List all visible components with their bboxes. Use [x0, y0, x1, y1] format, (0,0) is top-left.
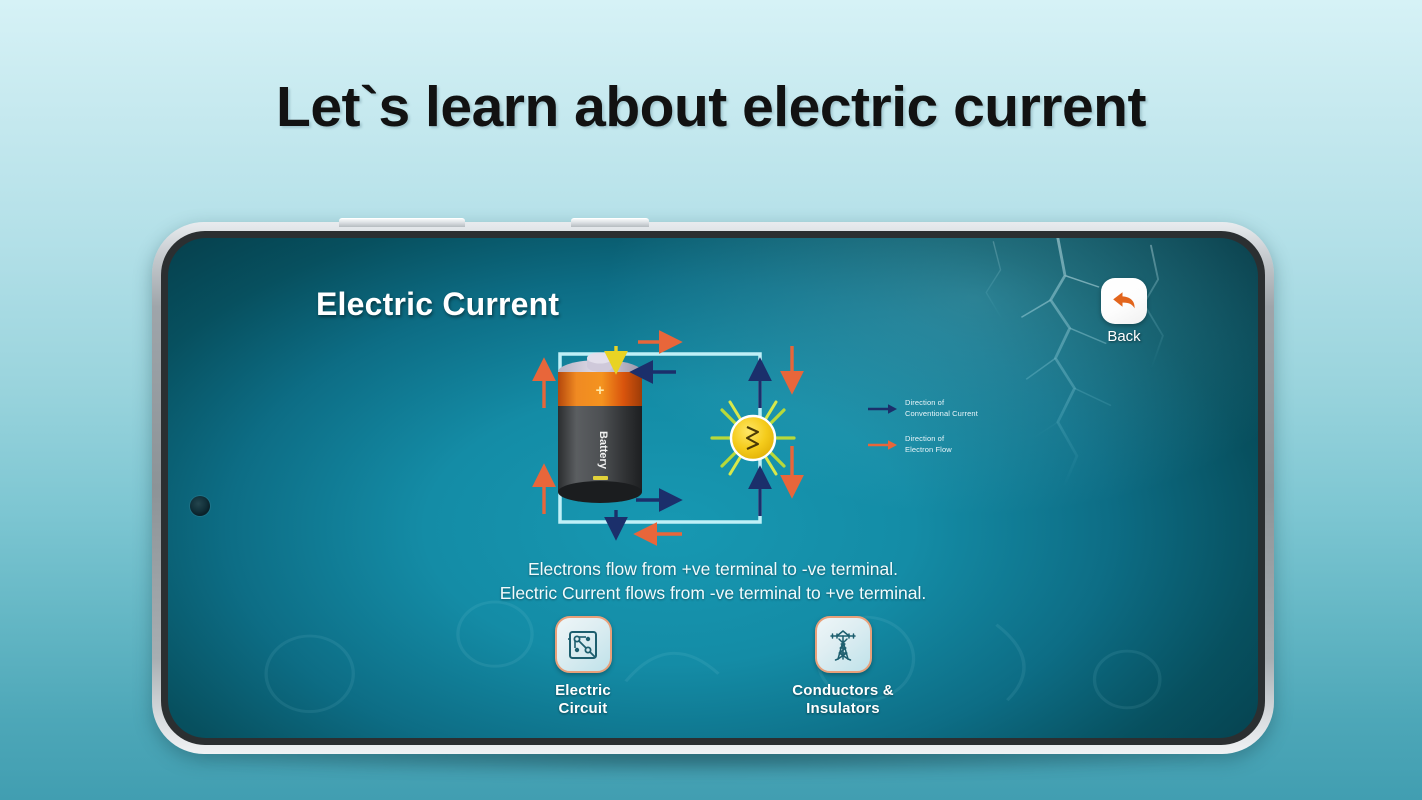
back-arrow-icon [1110, 288, 1138, 314]
battery-cell: + Battery [558, 353, 642, 504]
circuit-board-icon [566, 628, 600, 662]
tile-label-line-2: Circuit [508, 700, 658, 718]
diagram-legend: Direction of Conventional Current Direct… [868, 398, 1058, 470]
app-screenshot-root: Let`s learn about electric current [0, 0, 1422, 800]
topic-nav-tiles: Electric Circuit [168, 616, 1258, 717]
phone-screen: Electric Current Back [168, 238, 1258, 738]
legend-item-conventional-current: Direction of Conventional Current [868, 398, 1058, 420]
battery-negative-terminal-label [593, 476, 608, 480]
legend-line-1: Direction of [905, 434, 952, 445]
legend-item-electron-flow: Direction of Electron Flow [868, 434, 1058, 456]
volume-rocker-button[interactable] [339, 218, 465, 227]
nav-tile-conductors-insulators-button[interactable] [815, 616, 872, 673]
tile-label-line-1: Electric [508, 682, 658, 700]
phone-bezel: Electric Current Back [161, 231, 1265, 745]
battery-positive-terminal-label: + [596, 382, 605, 399]
caption-line-1: Electrons flow from +ve terminal to -ve … [168, 558, 1258, 582]
explanation-caption: Electrons flow from +ve terminal to -ve … [168, 558, 1258, 605]
tile-label-line-1: Conductors & [768, 682, 918, 700]
page-headline: Let`s learn about electric current [0, 74, 1422, 140]
phone-device-frame: Electric Current Back [152, 222, 1274, 754]
nav-tile-electric-circuit[interactable]: Electric Circuit [508, 616, 658, 717]
arrow-right-navy-icon [868, 402, 898, 416]
transmission-tower-icon [826, 627, 860, 663]
legend-line-1: Direction of [905, 398, 978, 409]
back-button-surface[interactable] [1101, 278, 1147, 324]
nav-tile-conductors-insulators[interactable]: Conductors & Insulators [768, 616, 918, 717]
caption-line-2: Electric Current flows from -ve terminal… [168, 582, 1258, 606]
nav-tile-electric-circuit-button[interactable] [555, 616, 612, 673]
arrow-right-orange-icon [868, 438, 898, 452]
battery-label: Battery [597, 431, 609, 470]
legend-line-2: Conventional Current [905, 409, 978, 420]
power-button[interactable] [571, 218, 649, 227]
light-bulb-glow-icon [712, 402, 794, 474]
back-button[interactable]: Back [1086, 278, 1162, 345]
nav-tile-electric-circuit-label: Electric Circuit [508, 682, 658, 717]
nav-tile-conductors-insulators-label: Conductors & Insulators [768, 682, 918, 717]
back-button-label: Back [1086, 328, 1162, 345]
front-camera-punch-hole-icon [190, 496, 210, 516]
tile-label-line-2: Insulators [768, 700, 918, 718]
legend-line-2: Electron Flow [905, 445, 952, 456]
page-title: Electric Current [316, 286, 559, 323]
